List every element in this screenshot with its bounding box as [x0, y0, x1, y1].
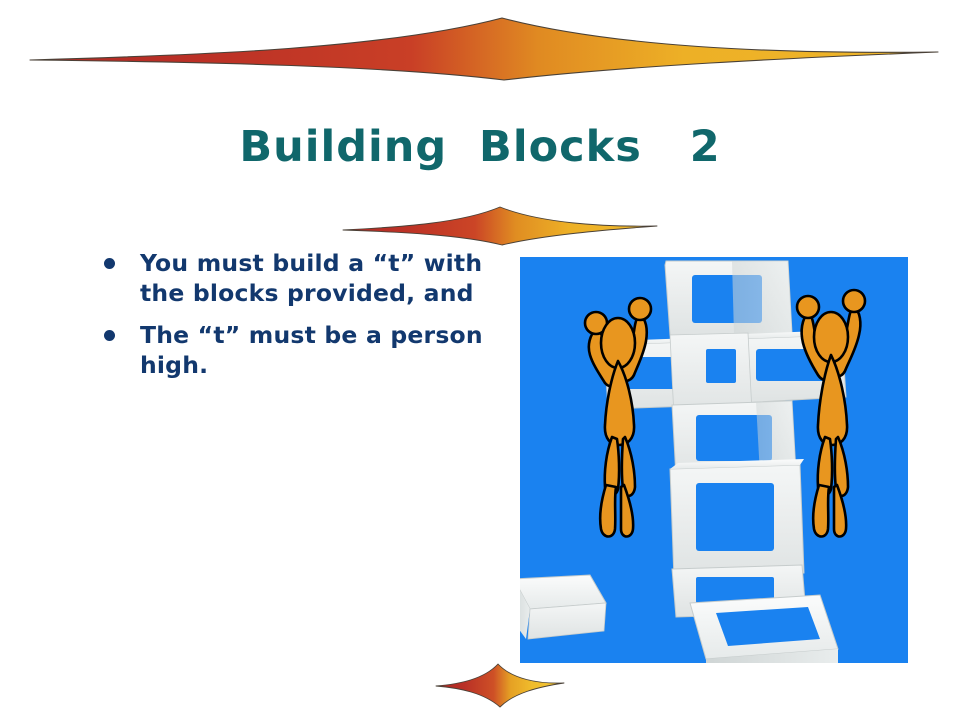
page-title: Building Blocks 2	[0, 122, 960, 172]
bullet-list: You must build a “t” with the blocks pro…	[96, 248, 496, 392]
list-item-text: The “t” must be a person high.	[140, 321, 483, 379]
foam-blocks-photo: White foam blocks stacked into a t shape…	[520, 257, 908, 663]
top-divider-ornament	[28, 8, 940, 92]
bottom-divider-ornament	[432, 660, 568, 712]
list-item: You must build a “t” with the blocks pro…	[96, 248, 496, 308]
bullet-dot-icon	[104, 258, 115, 269]
middle-divider-ornament	[340, 202, 660, 250]
bullet-dot-icon	[104, 330, 115, 341]
slide-canvas: Building Blocks 2 You must build a “t” w…	[0, 0, 960, 720]
list-item-text: You must build a “t” with the blocks pro…	[140, 249, 482, 307]
list-item: The “t” must be a person high.	[96, 320, 496, 380]
